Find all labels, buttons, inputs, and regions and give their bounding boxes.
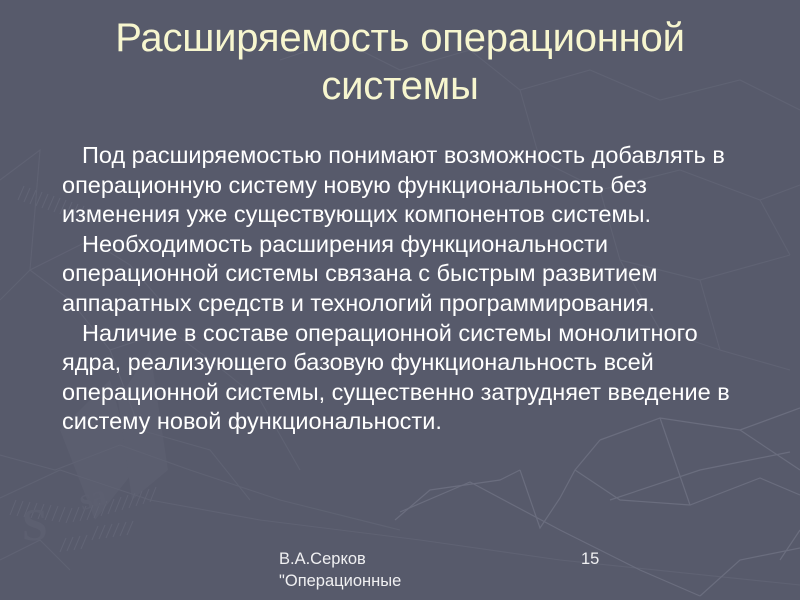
body-paragraph-2: Необходимость расширения функциональност… (62, 230, 752, 319)
svg-text:sa: sa (76, 478, 110, 516)
slide-title: Расширяемость операционной системы (40, 14, 760, 110)
body-paragraph-1: Под расширяемостью понимают возможность … (62, 141, 752, 230)
svg-text:S: S (22, 499, 48, 550)
footer-author: В.А.Серков "Операционные (279, 548, 549, 592)
footer-page-number: 15 (581, 548, 599, 570)
presentation-slide: S sa Расширяемость операционной системы … (0, 0, 800, 600)
body-paragraph-3: Наличие в составе операционной системы м… (62, 319, 752, 437)
slide-body-text: Под расширяемостью понимают возможность … (62, 141, 752, 437)
